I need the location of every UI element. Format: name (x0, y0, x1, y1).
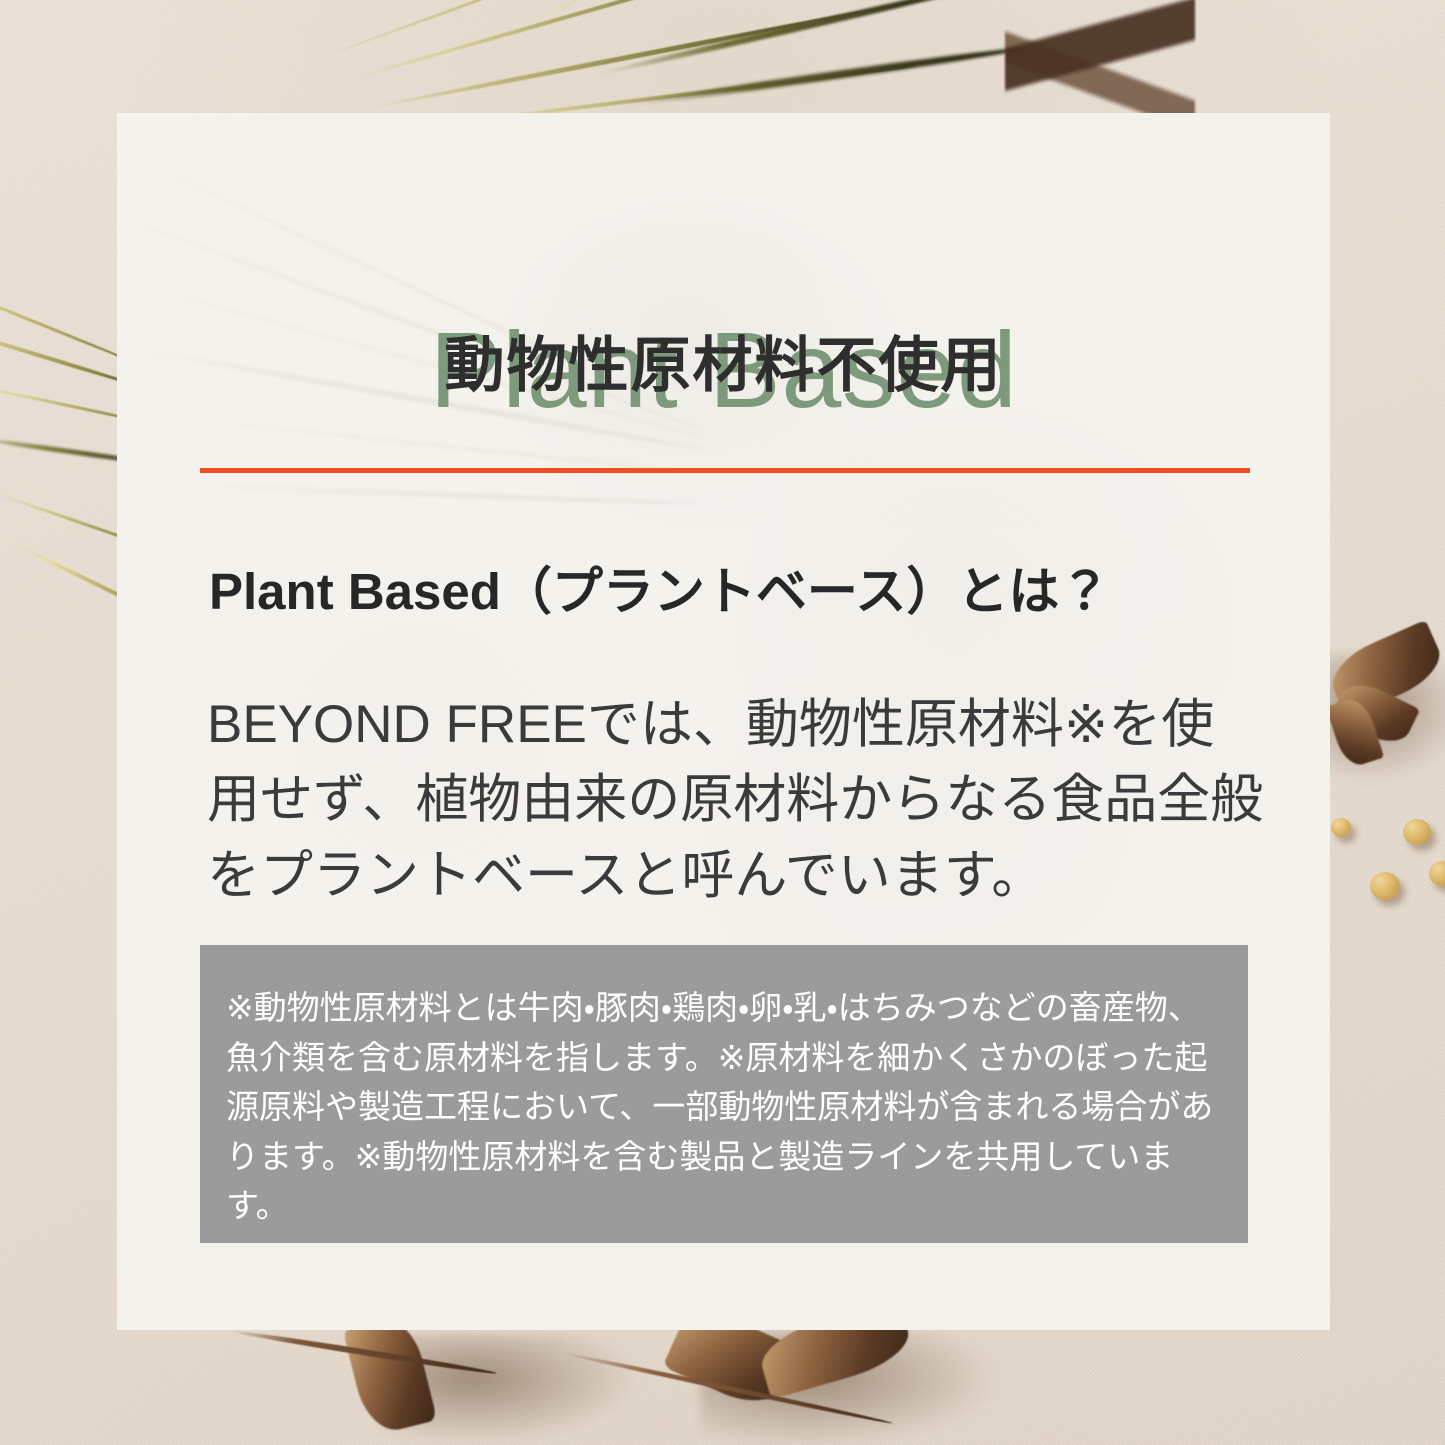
section-heading: Plant Based（プラントベース）とは？ (209, 564, 1110, 620)
section-divider (200, 468, 1250, 473)
page-subtitle: 動物性原材料不使用 (117, 336, 1330, 396)
footnote-box: ※動物性原材料とは牛肉・豚肉・鶏肉・卵・乳・はちみつなどの畜産物、魚介類を含む原… (200, 945, 1248, 1243)
poster: Plant Based 動物性原材料不使用 Plant Based（プラントベー… (0, 0, 1445, 1445)
content-card: Plant Based 動物性原材料不使用 Plant Based（プラントベー… (117, 113, 1330, 1330)
card-content: Plant Based 動物性原材料不使用 Plant Based（プラントベー… (117, 113, 1330, 1330)
footnote-text: ※動物性原材料とは牛肉・豚肉・鶏肉・卵・乳・はちみつなどの畜産物、魚介類を含む原… (226, 983, 1222, 1231)
body-paragraph: BEYOND FREEでは、動物性原材料※を使用せず、植物由来の原材料からなる食… (207, 687, 1267, 913)
